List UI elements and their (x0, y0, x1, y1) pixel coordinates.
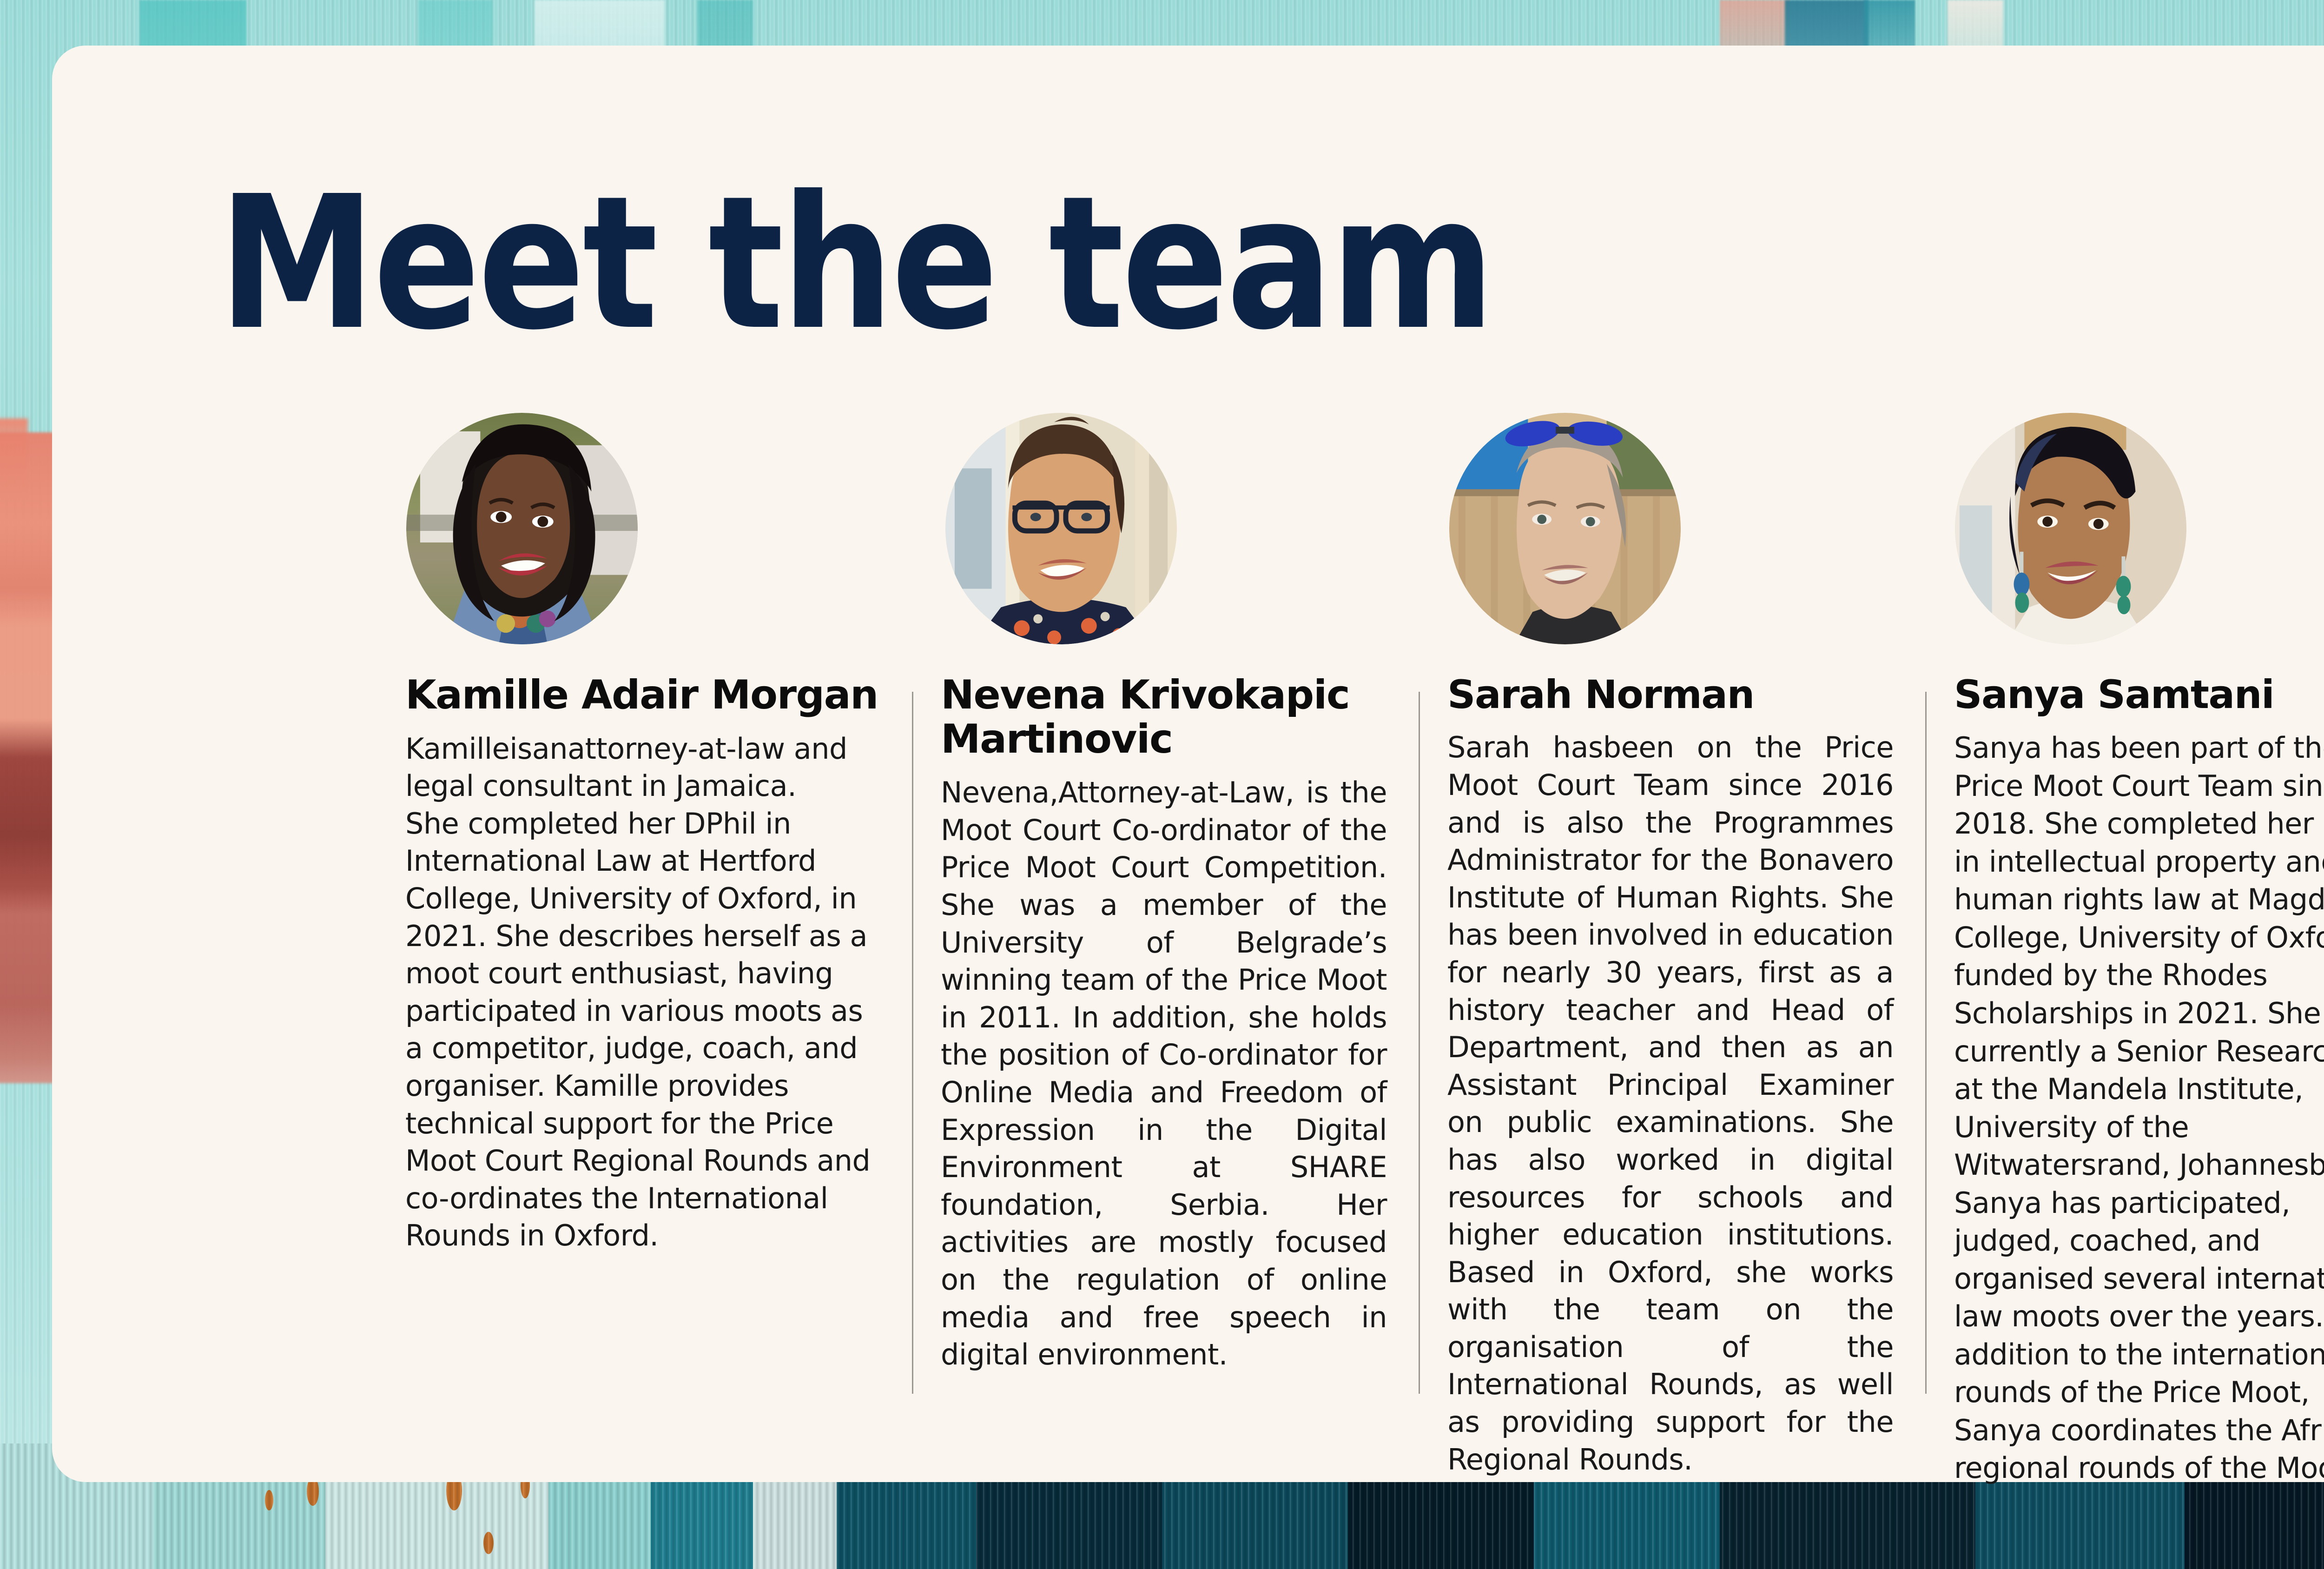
profile-card: Kamille Adair Morgan Kamilleisanattorney… (405, 413, 912, 1487)
team-profile-grid: Kamille Adair Morgan Kamilleisanattorney… (405, 413, 2324, 1487)
avatar (1449, 413, 1681, 644)
profile-bio: Kamilleisanattorney-at-law and legal con… (405, 730, 880, 1255)
column-divider (1925, 692, 1927, 1394)
profile-card: Sanya Samtani Sanya has been part of the… (1925, 413, 2324, 1487)
page-title: Meet the team (218, 172, 1492, 356)
profile-bio: Nevena,Attorney-at-Law, is the Moot Cour… (941, 774, 1387, 1374)
column-divider (1419, 692, 1420, 1394)
profile-card: Sarah Norman Sarah hasbeen on the Price … (1419, 413, 1925, 1487)
avatar (406, 413, 638, 644)
profile-card: Nevena Krivokapic Martinovic Nevena,Atto… (912, 413, 1419, 1487)
profile-name: Sarah Norman (1447, 673, 1894, 716)
profile-name: Kamille Adair Morgan (405, 673, 880, 717)
content-card: Meet the team Bonavero Institute of Huma… (52, 46, 2324, 1482)
portrait-kamille-adair-morgan (406, 413, 638, 644)
avatar (1955, 413, 2186, 644)
profile-name: Nevena Krivokapic Martinovic (941, 673, 1387, 761)
portrait-nevena-krivokapic-martinovic (945, 413, 1177, 644)
profile-bio: Sanya has been part of the Price Moot Co… (1954, 729, 2324, 1487)
profile-name: Sanya Samtani (1954, 673, 2324, 716)
profile-bio: Sarah hasbeen on the Price Moot Court Te… (1447, 729, 1894, 1478)
avatar (945, 413, 1177, 644)
portrait-sarah-norman (1449, 413, 1681, 644)
paint-fleck (483, 1532, 494, 1554)
paint-fleck (265, 1490, 273, 1510)
column-divider (912, 692, 913, 1394)
portrait-sanya-samtani (1955, 413, 2186, 644)
